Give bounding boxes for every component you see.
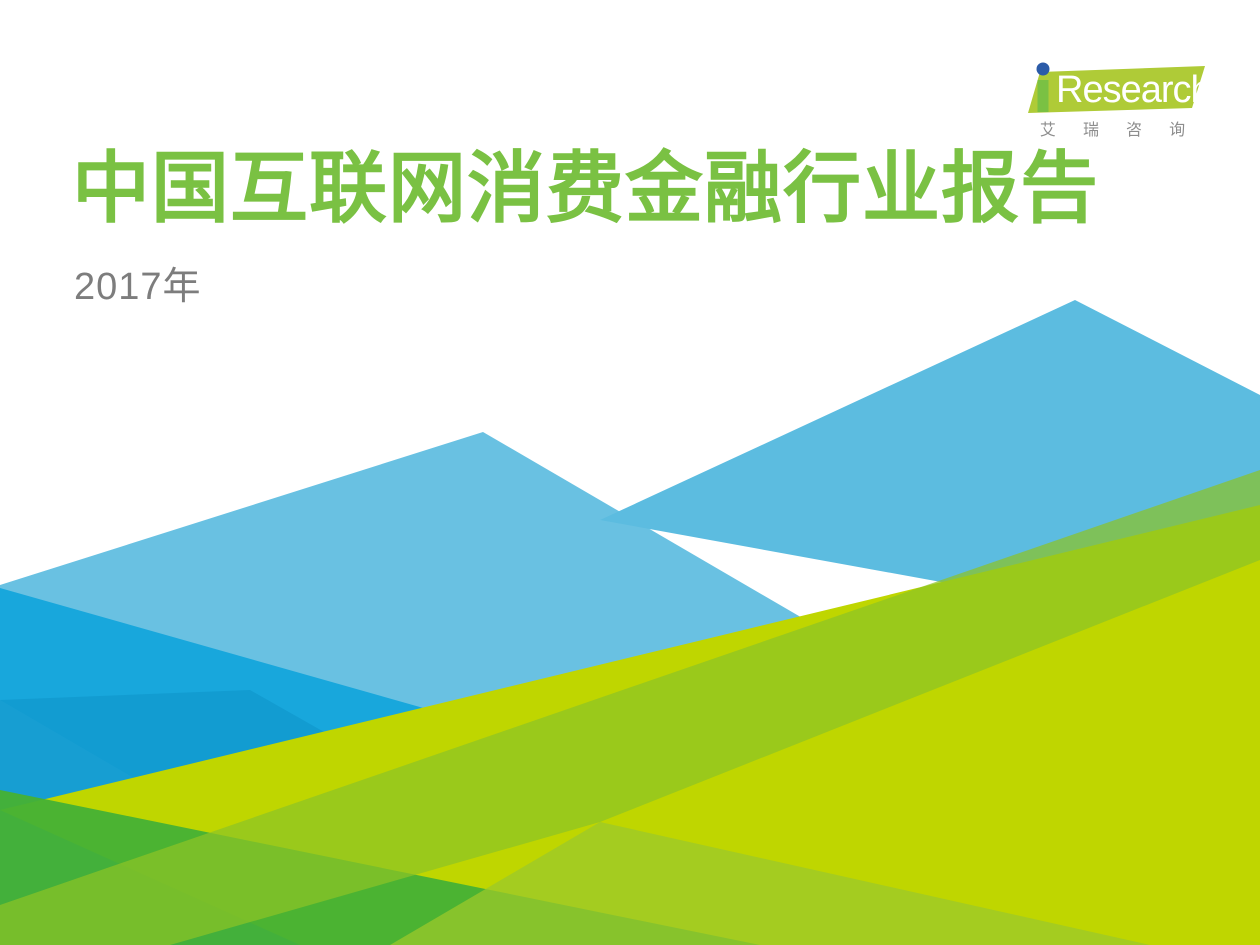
artwork-olive-green-band [0, 470, 1260, 945]
logo-wordmark-text: Research [1056, 69, 1205, 111]
page-subtitle-year: 2017年 [74, 267, 1099, 309]
logo-i-dot-icon [1037, 63, 1050, 76]
logo-i-stem-icon [1038, 80, 1049, 112]
page-title: 中国互联网消费金融行业报告 [72, 148, 1099, 231]
logo-chinese-name: 艾 瑞 咨 询 [1020, 120, 1205, 139]
background-artwork [0, 0, 1260, 945]
artwork-bright-blue-left [0, 588, 1260, 945]
title-block: 中国互联网消费金融行业报告 2017年 [72, 148, 1099, 308]
artwork-light-blue-left-peak [0, 432, 1005, 945]
artwork-base [0, 0, 1260, 945]
artwork-light-green-veil [390, 822, 1150, 945]
iresearch-logo-mark: Research [1020, 58, 1205, 115]
report-cover-slide: Research 艾 瑞 咨 询 中国互联网消费金融行业报告 2017年 [0, 0, 1260, 945]
artwork-yellow-green-slab [0, 505, 1260, 945]
iresearch-logo: Research 艾 瑞 咨 询 [1020, 58, 1205, 139]
artwork-deep-blue-wedge [0, 690, 700, 945]
artwork-grass-green-left [0, 790, 760, 945]
iresearch-wordmark-icon: Research [1020, 58, 1205, 115]
artwork-light-blue-right-peak [600, 300, 1260, 640]
